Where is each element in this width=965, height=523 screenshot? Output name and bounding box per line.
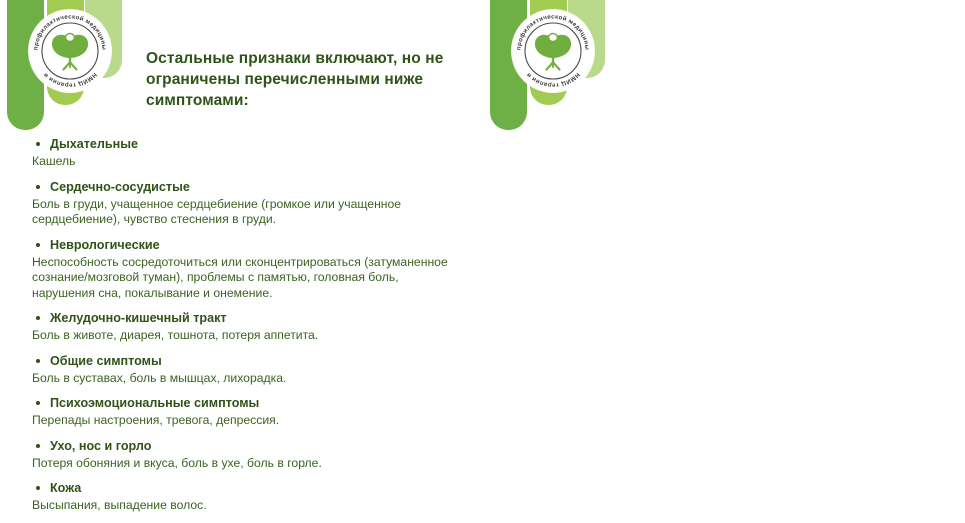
list-item-body: Высыпания, выпадение волос. xyxy=(32,498,462,514)
list-item: Общие симптомы Боль в суставах, боль в м… xyxy=(32,353,462,387)
left-panel: профилактической медицины НМИЦ терапии и xyxy=(0,0,482,500)
list-item-title: Кожа xyxy=(32,480,462,496)
list-item: Ухо, нос и горло Потеря обоняния и вкуса… xyxy=(32,438,462,472)
list-item-body: Неспособность сосредоточиться или сконце… xyxy=(32,255,462,302)
list-item-title-text: Дыхательные xyxy=(50,137,138,151)
list-item-body: Боль в суставах, боль в мышцах, лихорадк… xyxy=(32,371,462,387)
brand-block-left: профилактической медицины НМИЦ терапии и xyxy=(7,0,127,132)
list-item: Психоэмоциональные симптомы Перепады нас… xyxy=(32,395,462,429)
bullet-icon xyxy=(36,401,40,405)
infographic-page: профилактической медицины НМИЦ терапии и xyxy=(0,0,965,500)
list-item-title-text: Ухо, нос и горло xyxy=(50,439,151,453)
list-item-title-text: Желудочно-кишечный тракт xyxy=(50,311,227,325)
list-item-title: Желудочно-кишечный тракт xyxy=(32,310,462,326)
list-item-title: Ухо, нос и горло xyxy=(32,438,462,454)
bullet-icon xyxy=(36,359,40,363)
right-panel: профилактической медицины НМИЦ терапии и xyxy=(483,0,965,500)
bullet-icon xyxy=(36,185,40,189)
list-item-title-text: Неврологические xyxy=(50,238,160,252)
list-item-title: Общие симптомы xyxy=(32,353,462,369)
list-item-title: Сердечно-сосудистые xyxy=(32,179,462,195)
bullet-icon xyxy=(36,486,40,490)
list-item: Неврологические Неспособность сосредоточ… xyxy=(32,237,462,302)
bullet-icon xyxy=(36,142,40,146)
bullet-icon xyxy=(36,444,40,448)
list-item: Желудочно-кишечный тракт Боль в животе, … xyxy=(32,310,462,344)
bullet-icon xyxy=(36,316,40,320)
nmic-logo: профилактической медицины НМИЦ терапии и xyxy=(512,10,594,92)
list-item-title: Неврологические xyxy=(32,237,462,253)
list-item: Сердечно-сосудистые Боль в груди, учащен… xyxy=(32,179,462,228)
page-title: Остальные признаки включают, но не огран… xyxy=(146,48,466,111)
bullet-icon xyxy=(36,243,40,247)
brand-block-right: профилактической медицины НМИЦ терапии и xyxy=(490,0,610,132)
list-item-body: Потеря обоняния и вкуса, боль в ухе, бол… xyxy=(32,456,462,472)
list-item-title-text: Сердечно-сосудистые xyxy=(50,180,190,194)
list-item-title: Психоэмоциональные симптомы xyxy=(32,395,462,411)
list-item-title: Дыхательные xyxy=(32,136,462,152)
list-item: Дыхательные Кашель xyxy=(32,136,462,170)
list-item-body: Перепады настроения, тревога, депрессия. xyxy=(32,413,462,429)
list-item-body: Кашель xyxy=(32,154,462,170)
list-item-title-text: Психоэмоциональные симптомы xyxy=(50,396,259,410)
list-item-title-text: Кожа xyxy=(50,481,81,495)
symptom-list: Дыхательные Кашель Сердечно-сосудистые Б… xyxy=(32,136,462,523)
list-item: Кожа Высыпания, выпадение волос. xyxy=(32,480,462,514)
list-item-body: Боль в животе, диарея, тошнота, потеря а… xyxy=(32,328,462,344)
list-item-title-text: Общие симптомы xyxy=(50,354,162,368)
nmic-logo: профилактической медицины НМИЦ терапии и xyxy=(29,10,111,92)
list-item-body: Боль в груди, учащенное сердцебиение (гр… xyxy=(32,197,462,228)
